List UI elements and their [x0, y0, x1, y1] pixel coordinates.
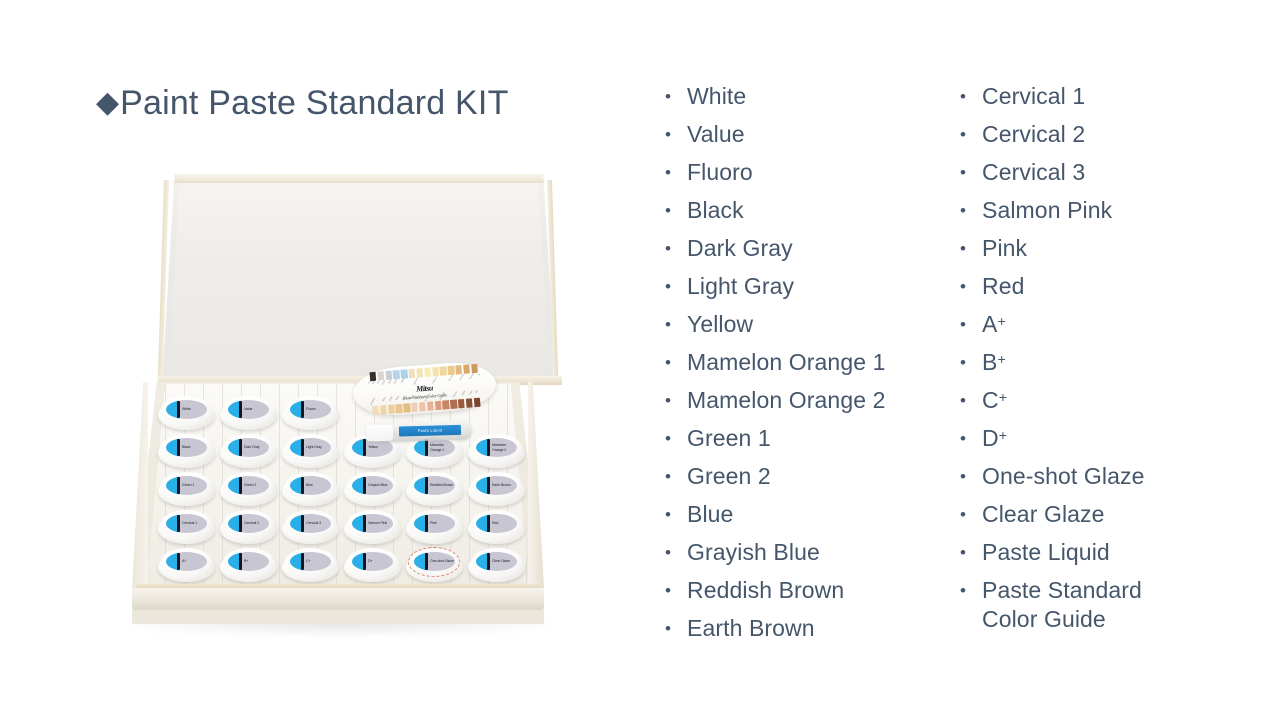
list-bullet-icon: • [665, 346, 687, 380]
color-guide-swatch [393, 369, 400, 378]
list-bullet-icon: • [665, 232, 687, 266]
paste-jar: Blue [282, 472, 339, 508]
list-item: •Green 2 [665, 460, 965, 498]
list-bullet-icon: • [960, 80, 982, 114]
jar-label: Dark Gray [228, 438, 269, 457]
jar-label-text: Cervical 1 [182, 514, 206, 533]
color-guide-swatch [434, 400, 441, 409]
list-bullet-icon: • [665, 118, 687, 152]
jar-black-bar-icon [425, 439, 428, 456]
paste-jar: Fluoro [282, 396, 339, 432]
list-item: •Reddish Brown [665, 574, 965, 612]
jar-label: Earth Brown [476, 476, 517, 495]
list-item: •Paste Standard Color Guide [960, 574, 1260, 632]
paste-jar: Salmon Pink [344, 510, 401, 546]
color-guide-swatch [419, 401, 426, 410]
list-item: •Fluoro [665, 156, 965, 194]
color-guide-swatch [416, 368, 423, 377]
paste-jar: White [158, 396, 215, 432]
jar-black-bar-icon [239, 515, 242, 532]
color-guide-swatch [369, 371, 376, 380]
list-item: •Light Gray [665, 270, 965, 308]
jar-label-text: Cervical 3 [306, 514, 330, 533]
list-item-label: Mamelon Orange 1 [687, 346, 965, 377]
color-guide-swatch [424, 367, 431, 376]
jar-label-text: Cervical 2 [244, 514, 268, 533]
list-item: •Dark Gray [665, 232, 965, 270]
jar-label-text: Green 1 [182, 476, 206, 495]
list-item: •Cervical 1 [960, 80, 1260, 118]
product-list-column-1: •White•Value•Fluoro•Black•Dark Gray•Ligh… [665, 80, 965, 650]
list-bullet-icon: • [960, 194, 982, 228]
list-bullet-icon: • [665, 574, 687, 608]
list-item-label: Green 2 [687, 460, 965, 491]
jar-label: Grayish Blue [352, 476, 393, 495]
list-item: •Value [665, 118, 965, 156]
jar-black-bar-icon [363, 515, 366, 532]
jar-black-bar-icon [177, 477, 180, 494]
paste-jar: Cervical 2 [220, 510, 277, 546]
tray-right-wall [528, 382, 544, 590]
page-title: ◆ Paint Paste Standard KIT [96, 84, 509, 123]
jar-label: Mamelon Orange 2 [476, 438, 517, 457]
list-item: •Pink [960, 232, 1260, 270]
product-photo: WhiteValueFluoroBlackDark GrayLight Gray… [110, 160, 570, 660]
jar-label: Reddish Brown [414, 476, 455, 495]
paste-jar: Pink [406, 510, 463, 546]
color-guide-swatch [463, 364, 470, 373]
paste-jar: A+ [158, 548, 215, 584]
color-guide-swatch [408, 368, 415, 377]
box-lid-top-band [164, 174, 554, 183]
jar-black-bar-icon [239, 401, 242, 418]
color-guide-swatch [455, 365, 462, 374]
jar-black-bar-icon [177, 439, 180, 456]
list-bullet-icon: • [960, 498, 982, 532]
jar-label-text: C+ [306, 552, 330, 571]
jar-black-bar-icon [301, 439, 304, 456]
paste-jar: Green 2 [220, 472, 277, 508]
jar-black-bar-icon [425, 515, 428, 532]
jar-black-bar-icon [239, 553, 242, 570]
jar-label-text: Mamelon Orange 2 [492, 438, 516, 457]
color-guide-swatch [450, 399, 457, 408]
list-item: •One-shot Glaze [960, 460, 1260, 498]
list-item-label: Clear Glaze [982, 498, 1260, 529]
jar-black-bar-icon [239, 477, 242, 494]
list-item: •Paste Liquid [960, 536, 1260, 574]
page-title-text: Paint Paste Standard KIT [120, 84, 508, 123]
paste-jar: Cervical 1 [158, 510, 215, 546]
list-item-label: Paste Standard Color Guide [982, 574, 1260, 634]
jar-black-bar-icon [363, 477, 366, 494]
list-item-label: Cervical 1 [982, 80, 1260, 111]
color-guide-swatch [447, 365, 454, 374]
list-bullet-icon: • [665, 156, 687, 190]
list-bullet-icon: • [960, 118, 982, 152]
jar-label-text: Grayish Blue [368, 476, 392, 495]
color-guide-swatch [458, 398, 465, 407]
list-bullet-icon: • [960, 270, 982, 304]
jar-label-text: Red [492, 514, 516, 533]
jar-label: B+ [228, 552, 269, 571]
paste-jar: Earth Brown [468, 472, 525, 508]
paste-jar: Black [158, 434, 215, 470]
color-guide-swatch [440, 366, 447, 375]
list-bullet-icon: • [960, 308, 982, 342]
jar-label: Cervical 2 [228, 514, 269, 533]
jar-label-text: Clear Glaze [492, 552, 516, 571]
color-guide-swatch [403, 403, 410, 412]
paste-jar: Mamelon Orange 2 [468, 434, 525, 470]
jar-label-text: Mamelon Orange 1 [430, 438, 454, 457]
jar-label: Cervical 3 [290, 514, 331, 533]
list-item: •Mamelon Orange 1 [665, 346, 965, 384]
list-item-superscript: + [999, 428, 1007, 444]
color-guide-swatch [385, 370, 392, 379]
jar-black-bar-icon [363, 553, 366, 570]
jar-label: Green 1 [166, 476, 207, 495]
list-item-label: Value [687, 118, 965, 149]
jar-black-bar-icon [487, 477, 490, 494]
paste-jar: Reddish Brown [406, 472, 463, 508]
list-item: •Red [960, 270, 1260, 308]
list-item: •Earth Brown [665, 612, 965, 650]
list-item-label: White [687, 80, 965, 111]
paste-jar: Grayish Blue [344, 472, 401, 508]
jar-black-bar-icon [177, 401, 180, 418]
list-bullet-icon: • [960, 460, 982, 494]
list-bullet-icon: • [665, 384, 687, 418]
vial-label: Paste Liquid [399, 425, 461, 437]
list-item-label: Salmon Pink [982, 194, 1260, 225]
list-bullet-icon: • [960, 536, 982, 570]
list-item-label: Black [687, 194, 965, 225]
list-item-label: Grayish Blue [687, 536, 965, 567]
jar-label: A+ [166, 552, 207, 571]
jar-label-text: Value [244, 400, 268, 419]
paste-liquid-vial: Paste Liquid [366, 421, 472, 443]
color-guide-swatch-label: Std [476, 390, 482, 397]
jar-black-bar-icon [301, 477, 304, 494]
jar-black-bar-icon [239, 439, 242, 456]
color-guide-swatch [377, 371, 384, 380]
list-item-label: Light Gray [687, 270, 965, 301]
jar-label: Fluoro [290, 400, 331, 419]
list-item-label: Earth Brown [687, 612, 965, 643]
color-guide-swatch [471, 363, 478, 372]
paste-jar: Value [220, 396, 277, 432]
list-item-label: A+ [982, 308, 1260, 339]
jar-label-text: Pink [430, 514, 454, 533]
list-item-superscript: + [999, 390, 1007, 406]
jar-black-bar-icon [177, 553, 180, 570]
list-item: •Black [665, 194, 965, 232]
list-item-label: Cervical 2 [982, 118, 1260, 149]
jar-label-text: D+ [368, 552, 392, 571]
list-item: •D+ [960, 422, 1260, 460]
list-item-label: Red [982, 270, 1260, 301]
list-item-label: C+ [982, 384, 1260, 415]
jar-label: Light Gray [290, 438, 331, 457]
list-item-label: Reddish Brown [687, 574, 965, 605]
list-item-label: Dark Gray [687, 232, 965, 263]
list-item-label: Green 1 [687, 422, 965, 453]
paste-jar: Clear Glaze [468, 548, 525, 584]
list-bullet-icon: • [960, 232, 982, 266]
list-item: •Cervical 3 [960, 156, 1260, 194]
color-guide-swatch [372, 405, 379, 414]
list-item-label: Mamelon Orange 2 [687, 384, 965, 415]
color-guide-swatch [466, 398, 473, 407]
list-item-label: Fluoro [687, 156, 965, 187]
jar-label: Green 2 [228, 476, 269, 495]
list-bullet-icon: • [960, 346, 982, 380]
jar-label: C+ [290, 552, 331, 571]
jar-label-text: White [182, 400, 206, 419]
list-item: •Cervical 2 [960, 118, 1260, 156]
jar-label-text: Salmon Pink [368, 514, 392, 533]
paste-jar: D+ [344, 548, 401, 584]
jar-black-bar-icon [301, 515, 304, 532]
list-item-label: Pink [982, 232, 1260, 263]
list-item: •Yellow [665, 308, 965, 346]
paste-jar: Light Gray [282, 434, 339, 470]
jar-label-text: Light Gray [306, 438, 330, 457]
jar-label: White [166, 400, 207, 419]
jar-label-text: Reddish Brown [430, 476, 454, 495]
paste-jar: Red [468, 510, 525, 546]
color-guide-swatch [401, 369, 408, 378]
jar-black-bar-icon [425, 553, 428, 570]
jar-label: Red [476, 514, 517, 533]
jar-label-text: Green 2 [244, 476, 268, 495]
paste-jar: Green 1 [158, 472, 215, 508]
jar-label: Salmon Pink [352, 514, 393, 533]
jar-label: One-shot Glaze [414, 552, 455, 571]
list-item-label: Paste Liquid [982, 536, 1260, 567]
list-item-label: D+ [982, 422, 1260, 453]
list-bullet-icon: • [665, 270, 687, 304]
jar-label-text: Earth Brown [492, 476, 516, 495]
list-bullet-icon: • [665, 612, 687, 646]
jar-label: Value [228, 400, 269, 419]
jar-black-bar-icon [487, 553, 490, 570]
list-bullet-icon: • [665, 498, 687, 532]
color-guide-swatch [432, 366, 439, 375]
product-list-column-2: •Cervical 1•Cervical 2•Cervical 3•Salmon… [960, 80, 1260, 632]
list-bullet-icon: • [960, 156, 982, 190]
list-item: •Grayish Blue [665, 536, 965, 574]
jar-black-bar-icon [487, 439, 490, 456]
list-item-label: Yellow [687, 308, 965, 339]
list-bullet-icon: • [665, 536, 687, 570]
list-item-label: Blue [687, 498, 965, 529]
jar-black-bar-icon [301, 401, 304, 418]
jar-label-text: A+ [182, 552, 206, 571]
list-bullet-icon: • [665, 80, 687, 114]
diamond-bullet-icon: ◆ [96, 88, 119, 118]
paste-jar: Cervical 3 [282, 510, 339, 546]
jar-label-text: One-shot Glaze [430, 552, 454, 571]
jar-label: Clear Glaze [476, 552, 517, 571]
box-lid-inner-panel [168, 178, 550, 378]
list-item: •Salmon Pink [960, 194, 1260, 232]
tray-front-lip [132, 588, 544, 610]
paste-jar: One-shot Glaze [406, 548, 463, 584]
list-bullet-icon: • [665, 422, 687, 456]
list-bullet-icon: • [665, 194, 687, 228]
jar-black-bar-icon [177, 515, 180, 532]
jar-label-text: Dark Gray [244, 438, 268, 457]
color-guide-swatch [427, 401, 434, 410]
paste-jar: C+ [282, 548, 339, 584]
color-guide-swatch [473, 397, 480, 406]
list-bullet-icon: • [665, 460, 687, 494]
jar-black-bar-icon [487, 515, 490, 532]
jar-label: Blue [290, 476, 331, 495]
color-guide-swatch [380, 405, 387, 414]
list-bullet-icon: • [960, 384, 982, 418]
list-item: •Green 1 [665, 422, 965, 460]
jar-grid: WhiteValueFluoroBlackDark GrayLight Gray… [146, 396, 530, 592]
color-guide-swatch [411, 402, 418, 411]
list-bullet-icon: • [665, 308, 687, 342]
list-item-label: One-shot Glaze [982, 460, 1260, 491]
paste-jar: B+ [220, 548, 277, 584]
list-item: •C+ [960, 384, 1260, 422]
jar-label: Pink [414, 514, 455, 533]
list-bullet-icon: • [960, 574, 982, 608]
jar-label-text: Black [182, 438, 206, 457]
color-guide-swatch [388, 404, 395, 413]
list-item: •White [665, 80, 965, 118]
jar-black-bar-icon [301, 553, 304, 570]
color-guide-swatch [442, 400, 449, 409]
jar-label: Black [166, 438, 207, 457]
jar-label-text: Blue [306, 476, 330, 495]
list-item: •Clear Glaze [960, 498, 1260, 536]
paste-jar: Dark Gray [220, 434, 277, 470]
jar-label: D+ [352, 552, 393, 571]
color-guide-swatch [396, 403, 403, 412]
list-item-label: B+ [982, 346, 1260, 377]
list-item: •B+ [960, 346, 1260, 384]
list-item: •Blue [665, 498, 965, 536]
list-item-superscript: + [997, 314, 1005, 330]
jar-label: Cervical 1 [166, 514, 207, 533]
vial-cap [366, 424, 393, 441]
list-item-superscript: + [997, 352, 1005, 368]
jar-label-text: Fluoro [306, 400, 330, 419]
list-item-label: Cervical 3 [982, 156, 1260, 187]
jar-black-bar-icon [425, 477, 428, 494]
list-item: •A+ [960, 308, 1260, 346]
list-item: •Mamelon Orange 2 [665, 384, 965, 422]
list-bullet-icon: • [960, 422, 982, 456]
jar-label-text: B+ [244, 552, 268, 571]
